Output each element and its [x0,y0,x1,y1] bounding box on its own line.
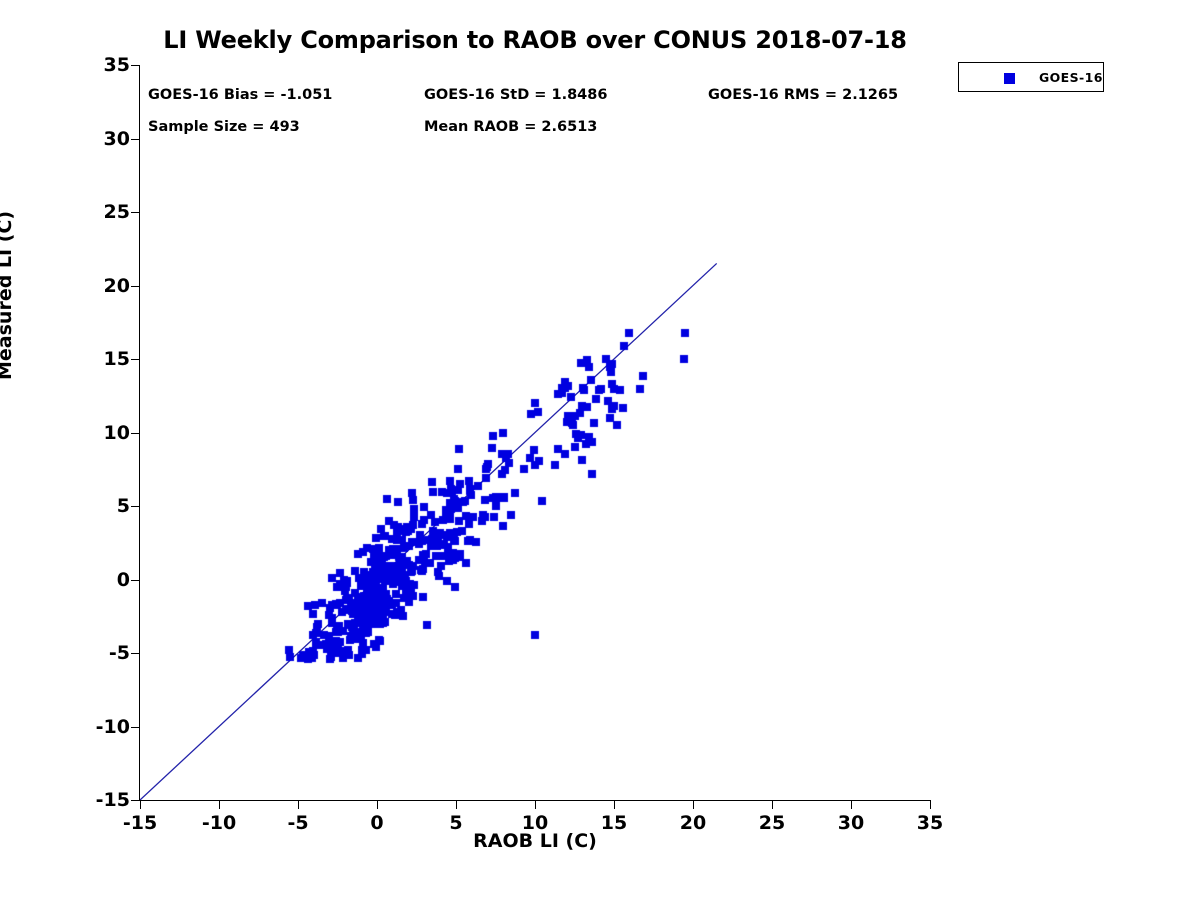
y-tick-label: 10 [104,422,130,444]
x-tick-label: -15 [123,812,157,834]
y-tick-mark [131,580,140,581]
x-tick-label: 5 [449,812,462,834]
legend-label-goes16: GOES-16 [1039,70,1103,85]
chart-figure: LI Weekly Comparison to RAOB over CONUS … [0,0,1200,900]
x-tick-label: 20 [680,812,706,834]
y-tick-label: 0 [117,569,130,591]
legend-swatch-goes16 [1004,73,1015,84]
y-tick-mark [131,359,140,360]
y-tick-label: 30 [104,128,130,150]
x-tick-mark [456,800,457,809]
scatter-points-layer [140,65,930,800]
stat-rms: GOES-16 RMS = 2.1265 [708,87,898,103]
x-tick-mark [298,800,299,809]
y-tick-mark [131,506,140,507]
stat-sample-size: Sample Size = 493 [148,119,300,135]
x-tick-mark [219,800,220,809]
x-tick-mark [140,800,141,809]
y-tick-label: -5 [109,642,130,664]
chart-title: LI Weekly Comparison to RAOB over CONUS … [140,26,930,54]
y-axis-title: Measured LI (C) [0,211,16,380]
x-tick-label: -5 [287,812,308,834]
x-tick-label: 35 [917,812,943,834]
y-tick-label: -15 [96,789,130,811]
y-tick-mark [131,433,140,434]
legend[interactable]: GOES-16 [958,62,1104,92]
x-tick-label: 15 [601,812,627,834]
x-tick-mark [772,800,773,809]
y-tick-label: 35 [104,54,130,76]
y-tick-mark [131,653,140,654]
y-tick-label: 25 [104,201,130,223]
x-tick-label: 25 [759,812,785,834]
plot-area: -15-10-505101520253035-15-10-50510152025… [140,65,930,800]
y-tick-label: 20 [104,275,130,297]
x-tick-label: -10 [202,812,236,834]
x-tick-mark [377,800,378,809]
x-tick-mark [930,800,931,809]
y-tick-mark [131,65,140,66]
y-tick-label: -10 [96,716,130,738]
x-tick-label: 10 [522,812,548,834]
x-tick-mark [851,800,852,809]
y-tick-mark [131,727,140,728]
y-tick-mark [131,800,140,801]
stat-bias: GOES-16 Bias = -1.051 [148,87,332,103]
x-tick-label: 30 [838,812,864,834]
y-tick-mark [131,139,140,140]
x-tick-mark [614,800,615,809]
x-tick-mark [535,800,536,809]
stat-std: GOES-16 StD = 1.8486 [424,87,607,103]
x-tick-mark [693,800,694,809]
y-tick-label: 15 [104,348,130,370]
x-tick-label: 0 [370,812,383,834]
y-tick-mark [131,212,140,213]
y-tick-label: 5 [117,495,130,517]
y-tick-mark [131,286,140,287]
stat-mean-raob: Mean RAOB = 2.6513 [424,119,597,135]
